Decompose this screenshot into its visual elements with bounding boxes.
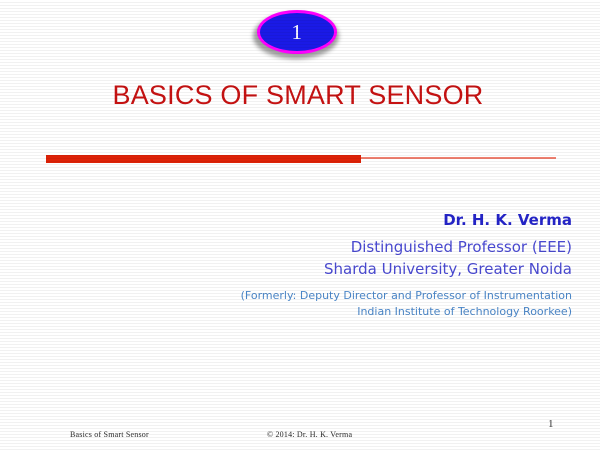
author-affiliation-line-2: Sharda University, Greater Noida (241, 258, 572, 280)
author-name: Dr. H. K. Verma (241, 210, 572, 230)
divider-thin-line (361, 157, 556, 159)
author-spacer-2 (241, 280, 572, 288)
badge-number-label: 1 (292, 22, 303, 43)
author-former-line-2: Indian Institute of Technology Roorkee) (241, 304, 572, 320)
footer-copyright-text: © 2014: Dr. H. K. Verma (267, 430, 352, 439)
page-number: 1 (548, 418, 554, 430)
chapter-number-badge: 1 (245, 8, 355, 64)
page-title: BASICS OF SMART SENSOR (0, 80, 596, 111)
author-block: Dr. H. K. Verma Distinguished Professor … (241, 210, 572, 320)
footer-left-text: Basics of Smart Sensor (70, 430, 149, 439)
badge-ellipse: 1 (257, 10, 337, 54)
author-affiliation-line-1: Distinguished Professor (EEE) (241, 236, 572, 258)
divider-thick-bar (46, 155, 361, 163)
slide-canvas: 1 BASICS OF SMART SENSOR Dr. H. K. Verma… (0, 0, 600, 450)
author-former-line-1: (Formerly: Deputy Director and Professor… (241, 288, 572, 304)
